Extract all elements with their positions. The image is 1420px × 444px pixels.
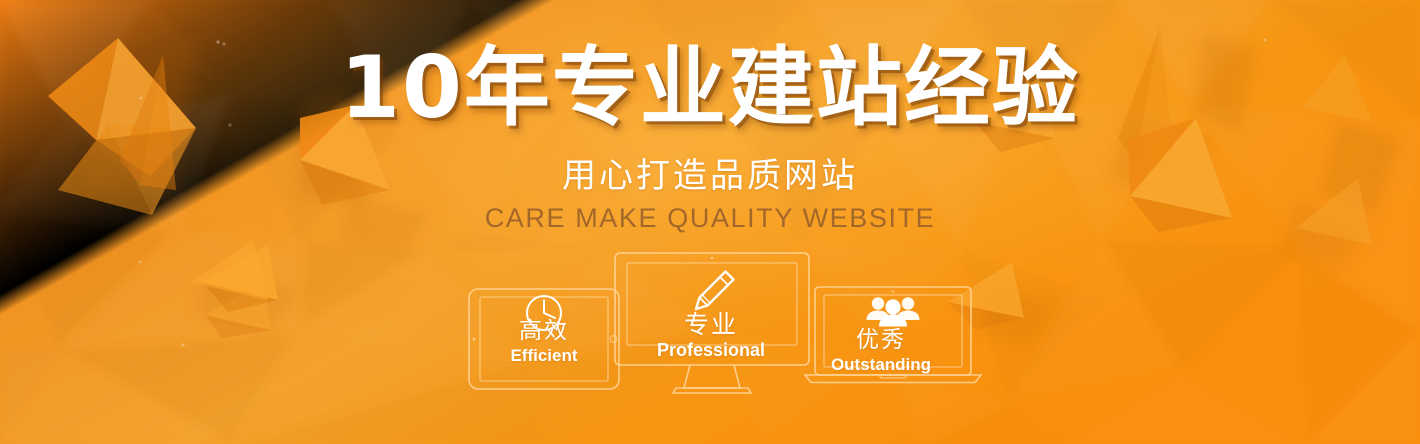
feature-tablet-efficient[interactable] <box>466 286 622 392</box>
pencil-icon <box>696 272 734 310</box>
people-group-icon <box>867 297 920 326</box>
device-feature-row: 高效 Efficient <box>0 0 1420 444</box>
hero-banner: 10年专业建站经验 用心打造品质网站 CARE MAKE QUALITY WEB… <box>0 0 1420 444</box>
feature-monitor-professional[interactable] <box>612 250 812 398</box>
monitor-camera-icon <box>711 257 714 260</box>
clock-icon <box>527 296 561 330</box>
laptop-camera-icon <box>892 290 894 292</box>
feature-laptop-outstanding[interactable] <box>802 284 984 394</box>
tablet-camera-icon <box>473 338 476 341</box>
